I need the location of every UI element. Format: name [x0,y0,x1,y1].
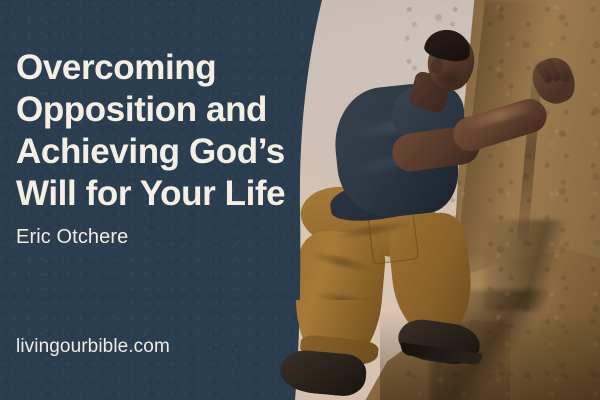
website-url: livingourbible.com [16,336,170,358]
text-content: Overcoming Opposition and Achieving God’… [0,0,340,400]
climber-jaw-shadow [432,70,466,92]
title-card: Overcoming Opposition and Achieving God’… [0,0,600,400]
page-title: Overcoming Opposition and Achieving God’… [16,47,306,215]
author-name: Eric Otchere [16,226,128,249]
